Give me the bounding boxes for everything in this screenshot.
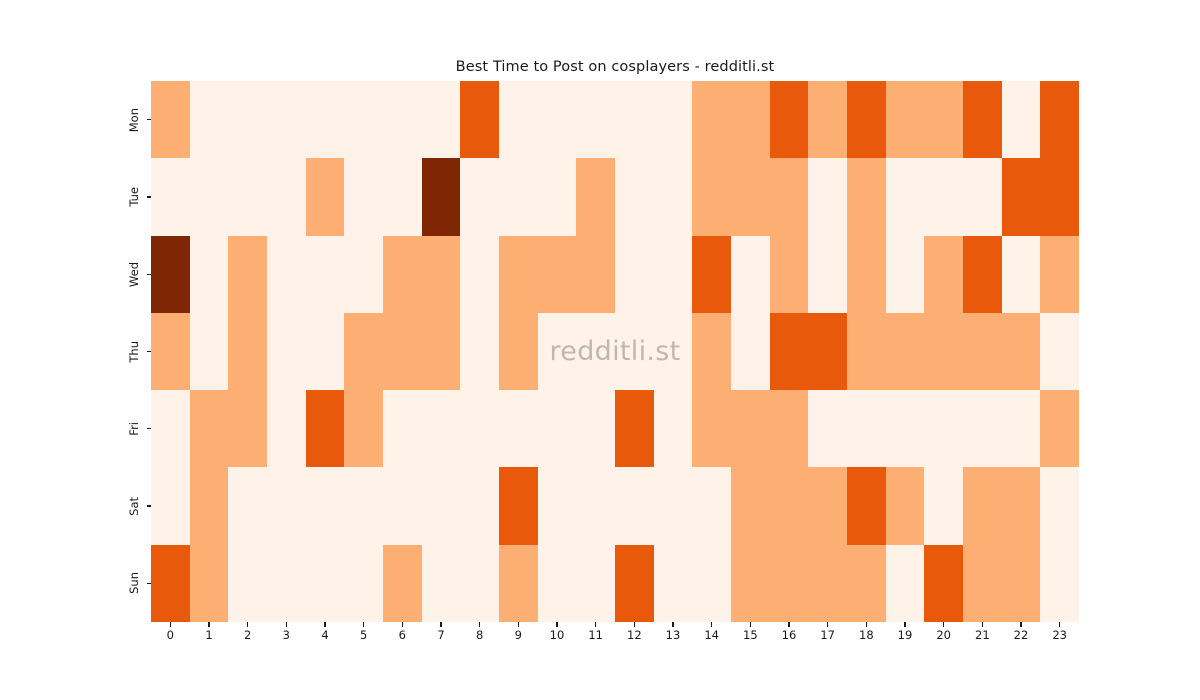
heatmap-cell — [886, 390, 925, 467]
heatmap-cell — [654, 81, 693, 158]
x-tick-mark — [440, 622, 441, 627]
heatmap-cell — [886, 236, 925, 313]
heatmap-cell — [151, 467, 190, 544]
x-tick-label: 12 — [627, 630, 642, 642]
heatmap-cell — [731, 545, 770, 622]
x-tick-14: 14 — [692, 622, 731, 641]
x-tick-2: 2 — [228, 622, 267, 641]
heatmap-cell — [924, 158, 963, 235]
heatmap-cell — [1040, 81, 1079, 158]
heatmap-cell — [963, 390, 1002, 467]
x-tick-mark — [556, 622, 557, 627]
y-tick-label: Mon — [129, 108, 141, 132]
heatmap-cell — [228, 236, 267, 313]
x-tick-6: 6 — [383, 622, 422, 641]
heatmap-cell — [151, 236, 190, 313]
heatmap-cell — [538, 81, 577, 158]
heatmap-cell — [538, 236, 577, 313]
heatmap-cell — [963, 467, 1002, 544]
heatmap-cell — [654, 545, 693, 622]
heatmap-cell — [847, 158, 886, 235]
heatmap-cell — [499, 545, 538, 622]
x-tick-label: 0 — [167, 630, 174, 642]
heatmap-cell — [615, 467, 654, 544]
heatmap-cell — [615, 313, 654, 390]
heatmap-cell — [306, 545, 345, 622]
heatmap-cell — [731, 467, 770, 544]
y-tick-label: Sat — [129, 497, 141, 516]
x-tick-label: 4 — [321, 630, 328, 642]
heatmap-cell — [615, 390, 654, 467]
x-tick-4: 4 — [306, 622, 345, 641]
x-tick-10: 10 — [538, 622, 577, 641]
heatmap-cell — [344, 81, 383, 158]
heatmap-cell — [886, 81, 925, 158]
x-tick-label: 11 — [588, 630, 603, 642]
heatmap-cell — [576, 467, 615, 544]
heatmap-cell — [460, 236, 499, 313]
heatmap-cell — [654, 467, 693, 544]
heatmap-cell — [151, 313, 190, 390]
heatmap-cell — [267, 545, 306, 622]
x-tick-18: 18 — [847, 622, 886, 641]
heatmap-cell — [228, 313, 267, 390]
heatmap-cell — [344, 390, 383, 467]
heatmap-cell — [692, 390, 731, 467]
heatmap-cell — [654, 313, 693, 390]
heatmap-cell — [460, 158, 499, 235]
heatmap-cell — [963, 313, 1002, 390]
heatmap-cell — [1040, 390, 1079, 467]
heatmap-cell — [190, 81, 229, 158]
heatmap-cell — [460, 545, 499, 622]
heatmap-cell — [1040, 545, 1079, 622]
heatmap-cell — [228, 81, 267, 158]
heatmap-cell — [151, 545, 190, 622]
x-tick-8: 8 — [460, 622, 499, 641]
heatmap-cell — [460, 313, 499, 390]
heatmap-cell — [422, 313, 461, 390]
heatmap-cell — [770, 81, 809, 158]
x-tick-label: 20 — [936, 630, 951, 642]
heatmap-cell — [963, 236, 1002, 313]
x-tick-label: 14 — [704, 630, 719, 642]
x-tick-mark — [982, 622, 983, 627]
x-tick-label: 17 — [820, 630, 835, 642]
heatmap-cell — [731, 81, 770, 158]
x-tick-mark — [1059, 622, 1060, 627]
heatmap-cell — [422, 236, 461, 313]
x-tick-9: 9 — [499, 622, 538, 641]
heatmap-cell — [151, 158, 190, 235]
x-tick-mark — [247, 622, 248, 627]
x-tick-17: 17 — [808, 622, 847, 641]
x-tick-label: 7 — [437, 630, 444, 642]
heatmap-cell — [460, 467, 499, 544]
heatmap-cell — [267, 313, 306, 390]
x-tick-23: 23 — [1040, 622, 1079, 641]
heatmap-cell — [770, 467, 809, 544]
heatmap-cell — [847, 236, 886, 313]
x-tick-1: 1 — [190, 622, 229, 641]
x-tick-mark — [595, 622, 596, 627]
heatmap-cell — [538, 390, 577, 467]
y-tick-sun: Sun — [0, 545, 151, 622]
heatmap-cell — [576, 545, 615, 622]
heatmap-cell — [692, 545, 731, 622]
y-tick-thu: Thu — [0, 313, 151, 390]
heatmap-cell — [886, 158, 925, 235]
y-tick-mon: Mon — [0, 81, 151, 158]
heatmap-cell — [924, 467, 963, 544]
heatmap-cell — [692, 158, 731, 235]
x-tick-mark — [711, 622, 712, 627]
heatmap-cell — [924, 81, 963, 158]
heatmap-cell — [267, 158, 306, 235]
y-tick-label: Thu — [129, 341, 141, 363]
heatmap-cell — [383, 236, 422, 313]
x-tick-13: 13 — [654, 622, 693, 641]
x-tick-16: 16 — [770, 622, 809, 641]
x-tick-20: 20 — [924, 622, 963, 641]
x-tick-label: 2 — [244, 630, 251, 642]
x-tick-mark — [286, 622, 287, 627]
x-tick-label: 21 — [975, 630, 990, 642]
heatmap-cell — [847, 467, 886, 544]
heatmap-cell — [1002, 390, 1041, 467]
heatmap-cell — [228, 390, 267, 467]
heatmap-cell — [228, 545, 267, 622]
heatmap-cell — [306, 467, 345, 544]
x-tick-mark — [866, 622, 867, 627]
heatmap-cell — [770, 313, 809, 390]
heatmap-cell — [808, 313, 847, 390]
y-tick-label: Fri — [129, 422, 141, 436]
heatmap-cell — [576, 390, 615, 467]
heatmap-cell — [1002, 545, 1041, 622]
heatmap-cell — [1040, 236, 1079, 313]
heatmap-cell — [499, 467, 538, 544]
heatmap-cell — [1002, 81, 1041, 158]
heatmap-cell — [344, 545, 383, 622]
y-tick-label: Sun — [129, 572, 141, 594]
x-tick-label: 19 — [898, 630, 913, 642]
chart-title: Best Time to Post on cosplayers - reddit… — [151, 59, 1079, 75]
heatmap-cell — [770, 545, 809, 622]
heatmap-cell — [1002, 313, 1041, 390]
y-tick-label: Wed — [129, 262, 141, 287]
x-tick-label: 6 — [399, 630, 406, 642]
heatmap-cell — [808, 467, 847, 544]
heatmap-cell — [576, 81, 615, 158]
heatmap-cell — [808, 390, 847, 467]
y-tick-tue: Tue — [0, 158, 151, 235]
heatmap-cell — [422, 545, 461, 622]
heatmap-cell — [770, 236, 809, 313]
heatmap-cell — [499, 390, 538, 467]
x-tick-19: 19 — [886, 622, 925, 641]
y-tick-wed: Wed — [0, 236, 151, 313]
heatmap-cell — [538, 158, 577, 235]
y-tick-label: Tue — [129, 187, 141, 207]
heatmap-cell — [576, 313, 615, 390]
x-tick-mark — [672, 622, 673, 627]
x-tick-mark — [788, 622, 789, 627]
x-tick-mark — [943, 622, 944, 627]
heatmap-cell — [267, 236, 306, 313]
heatmap-cell — [151, 81, 190, 158]
heatmap-cell — [190, 390, 229, 467]
x-tick-0: 0 — [151, 622, 190, 641]
heatmap-cell — [306, 390, 345, 467]
heatmap-cell — [306, 158, 345, 235]
heatmap-cell — [1002, 158, 1041, 235]
y-tick-fri: Fri — [0, 390, 151, 467]
heatmap-cell — [886, 467, 925, 544]
x-tick-mark — [634, 622, 635, 627]
heatmap-cell — [731, 313, 770, 390]
heatmap-cell — [654, 236, 693, 313]
x-tick-mark — [479, 622, 480, 627]
heatmap-cell — [576, 158, 615, 235]
heatmap-cell — [344, 313, 383, 390]
heatmap-cell — [576, 236, 615, 313]
x-tick-label: 15 — [743, 630, 758, 642]
heatmap-cell — [615, 236, 654, 313]
x-tick-mark — [518, 622, 519, 627]
x-tick-7: 7 — [422, 622, 461, 641]
heatmap-cell — [847, 390, 886, 467]
heatmap-cell — [886, 313, 925, 390]
heatmap-cell — [654, 390, 693, 467]
heatmap-cell — [422, 81, 461, 158]
heatmap-cell — [692, 467, 731, 544]
heatmap-cell — [615, 81, 654, 158]
heatmap-cell — [847, 313, 886, 390]
x-tick-label: 9 — [515, 630, 522, 642]
heatmap-cell — [692, 236, 731, 313]
x-tick-22: 22 — [1002, 622, 1041, 641]
x-tick-mark — [170, 622, 171, 627]
heatmap-cell — [924, 236, 963, 313]
heatmap-cell — [731, 158, 770, 235]
x-tick-label: 3 — [283, 630, 290, 642]
heatmap-cell — [422, 158, 461, 235]
heatmap-cell — [770, 158, 809, 235]
heatmap-cell — [190, 313, 229, 390]
heatmap-cell — [267, 467, 306, 544]
heatmap-cell — [963, 158, 1002, 235]
heatmap-cell — [924, 390, 963, 467]
x-tick-mark — [1020, 622, 1021, 627]
y-axis: MonTueWedThuFriSatSun — [0, 81, 151, 622]
heatmap-cell — [615, 158, 654, 235]
x-tick-mark — [904, 622, 905, 627]
heatmap-cell — [190, 467, 229, 544]
heatmap-cell — [886, 545, 925, 622]
x-tick-15: 15 — [731, 622, 770, 641]
heatmap-cell — [383, 390, 422, 467]
x-tick-12: 12 — [615, 622, 654, 641]
heatmap-cell — [499, 236, 538, 313]
x-tick-label: 23 — [1052, 630, 1067, 642]
heatmap-cell — [1040, 313, 1079, 390]
heatmap-cell — [383, 81, 422, 158]
x-tick-label: 13 — [666, 630, 681, 642]
x-tick-11: 11 — [576, 622, 615, 641]
heatmap-cell — [460, 390, 499, 467]
x-tick-mark — [324, 622, 325, 627]
heatmap-cell — [422, 467, 461, 544]
heatmap-cell — [499, 81, 538, 158]
heatmap-cell — [847, 81, 886, 158]
heatmap-cell — [963, 81, 1002, 158]
heatmap-cell — [692, 81, 731, 158]
heatmap-cell — [808, 158, 847, 235]
heatmap-cell — [963, 545, 1002, 622]
x-tick-label: 18 — [859, 630, 874, 642]
x-tick-label: 10 — [550, 630, 565, 642]
heatmap-figure: Best Time to Post on cosplayers - reddit… — [0, 0, 1200, 700]
heatmap-cell — [692, 313, 731, 390]
x-tick-label: 8 — [476, 630, 483, 642]
x-tick-mark — [827, 622, 828, 627]
heatmap-cell — [499, 158, 538, 235]
heatmap-cell — [383, 313, 422, 390]
heatmap-cell — [924, 313, 963, 390]
heatmap-cell — [808, 545, 847, 622]
heatmap-cell — [808, 236, 847, 313]
heatmap-cell — [847, 545, 886, 622]
heatmap-cell — [538, 313, 577, 390]
heatmap-cell — [770, 390, 809, 467]
x-tick-label: 5 — [360, 630, 367, 642]
heatmap-cell — [383, 545, 422, 622]
heatmap-cell — [808, 81, 847, 158]
heatmap-cell — [1040, 467, 1079, 544]
x-tick-label: 1 — [205, 630, 212, 642]
x-tick-label: 22 — [1014, 630, 1029, 642]
heatmap-cell — [306, 313, 345, 390]
x-tick-3: 3 — [267, 622, 306, 641]
heatmap-cell — [499, 313, 538, 390]
x-axis: 01234567891011121314151617181920212223 — [151, 622, 1079, 662]
heatmap-cell — [306, 81, 345, 158]
heatmap-cell — [190, 236, 229, 313]
heatmap-cell — [731, 236, 770, 313]
heatmap-grid — [151, 81, 1079, 622]
heatmap-cell — [267, 390, 306, 467]
heatmap-cell — [1002, 467, 1041, 544]
x-tick-mark — [750, 622, 751, 627]
heatmap-cell — [731, 390, 770, 467]
heatmap-cell — [654, 158, 693, 235]
heatmap-cell — [190, 545, 229, 622]
heatmap-cell — [538, 545, 577, 622]
heatmap-cell — [228, 158, 267, 235]
heatmap-cell — [306, 236, 345, 313]
heatmap-cell — [344, 158, 383, 235]
heatmap-cell — [615, 545, 654, 622]
heatmap-cell — [460, 81, 499, 158]
plot-area: redditli.st — [151, 81, 1079, 622]
heatmap-cell — [267, 81, 306, 158]
x-tick-21: 21 — [963, 622, 1002, 641]
x-tick-5: 5 — [344, 622, 383, 641]
y-tick-sat: Sat — [0, 467, 151, 544]
x-tick-mark — [402, 622, 403, 627]
heatmap-cell — [344, 467, 383, 544]
heatmap-cell — [190, 158, 229, 235]
heatmap-cell — [228, 467, 267, 544]
heatmap-cell — [924, 545, 963, 622]
x-tick-label: 16 — [782, 630, 797, 642]
x-tick-mark — [363, 622, 364, 627]
heatmap-cell — [422, 390, 461, 467]
heatmap-cell — [1002, 236, 1041, 313]
heatmap-cell — [383, 467, 422, 544]
heatmap-cell — [383, 158, 422, 235]
heatmap-cell — [344, 236, 383, 313]
heatmap-cell — [151, 390, 190, 467]
x-tick-mark — [208, 622, 209, 627]
heatmap-cell — [538, 467, 577, 544]
heatmap-cell — [1040, 158, 1079, 235]
